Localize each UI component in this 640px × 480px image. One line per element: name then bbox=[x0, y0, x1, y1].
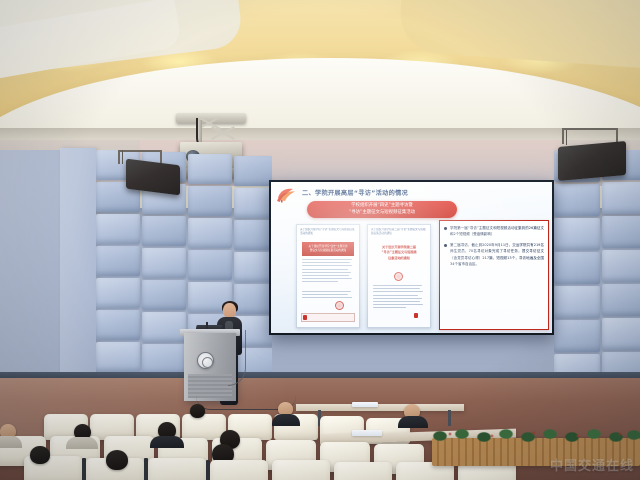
document-thumbnail-2: 关于组织开展学院第二届“寻访”主题征文与短视频征集活动的通知 关于组织开展学院第… bbox=[367, 224, 431, 328]
seat bbox=[210, 460, 268, 480]
attendee-head bbox=[106, 450, 128, 470]
acoustic-panel-wall-right bbox=[554, 150, 640, 390]
presentation-slide: 二、学院开展高层“寻访”活动的情况 学校组织开展“四史”主题寻访暨 “寻访”主题… bbox=[271, 182, 552, 333]
attendee-head bbox=[190, 404, 205, 418]
slide-title: 二、学院开展高层“寻访”活动的情况 bbox=[302, 188, 548, 197]
seat bbox=[334, 462, 392, 480]
seat bbox=[272, 460, 330, 480]
planter-flowers bbox=[430, 428, 638, 442]
attendee-shoulders bbox=[66, 437, 98, 449]
doc1-red-line-2: 暨征文与短视频征集活动的通知 bbox=[310, 249, 346, 253]
presenter-head bbox=[223, 303, 236, 318]
callout-bullet-1-text: 学院第一届“寻访”主题征文和短视频活动征集到的26篇征文和2个短视频（受疫情影响… bbox=[450, 225, 544, 237]
image-watermark: 中国交通在线 bbox=[550, 455, 634, 474]
callout-bullet-2: 第二届寻访，截止到2020年9月11日，交运学院共有219名师生党员、70名寻访… bbox=[444, 242, 544, 267]
lecture-hall-photo: 二、学院开展高层“寻访”活动的情况 学校组织开展“四史”主题寻访暨 “寻访”主题… bbox=[0, 0, 640, 480]
doc2-red-title: 关于组织开展学院第二届 “寻访”主题征文与短视频 征集活动的通知 bbox=[372, 245, 426, 261]
table-paper bbox=[352, 402, 378, 407]
doc2-seal-icon bbox=[394, 272, 403, 281]
seat-divider bbox=[144, 458, 148, 480]
doc1-footer-bar bbox=[301, 313, 355, 322]
slide-callout-box: 学院第一届“寻访”主题征文和短视频活动征集到的26篇征文和2个短视频（受疫情影响… bbox=[439, 220, 549, 330]
table-paper bbox=[352, 430, 382, 436]
attendee-shoulders bbox=[398, 416, 428, 428]
attendee-head bbox=[30, 446, 50, 464]
slide-ribbon-banner: 学校组织开展“四史”主题寻访暨 “寻访”主题征文与短视频征集活动 bbox=[307, 201, 457, 218]
doc1-red-title-block: 关于组织开展学院“四史”主题寻访 暨征文与短视频征集活动的通知 bbox=[302, 242, 354, 256]
bullet-dot-icon bbox=[444, 227, 447, 230]
ribbon-flame-icon bbox=[276, 187, 298, 203]
attendee-shoulders bbox=[0, 436, 22, 448]
seat-divider bbox=[206, 460, 210, 480]
speaker-wire-right bbox=[566, 130, 567, 145]
doc2-red-mark bbox=[414, 313, 418, 318]
attendee-shoulders bbox=[272, 414, 300, 426]
callout-bullet-2-text: 第二届寻访，截止到2020年9月11日，交运学院共有219名师生党员、70名寻访… bbox=[450, 242, 544, 267]
left-flat-wall bbox=[0, 150, 66, 405]
doc1-seal-icon bbox=[335, 301, 344, 310]
ribbon-line-1: 学校组织开展“四史”主题寻访暨 bbox=[351, 203, 413, 210]
university-emblem-icon bbox=[197, 352, 214, 369]
seat-divider bbox=[82, 458, 86, 480]
seat bbox=[148, 458, 206, 480]
doc1-header-text: 关于组织开展学院“寻访”主题征文与短视频征集活动的通知 bbox=[300, 228, 356, 236]
bullet-dot-icon bbox=[444, 244, 447, 247]
podium-grille bbox=[188, 374, 232, 398]
doc2-red-line-3: 征集活动的通知 bbox=[372, 256, 426, 261]
callout-bullet-1: 学院第一届“寻访”主题征文和短视频活动征集到的26篇征文和2个短视频（受疫情影响… bbox=[444, 225, 544, 237]
doc1-body-lines-2 bbox=[302, 291, 354, 301]
doc1-body-lines bbox=[302, 259, 354, 285]
wall-speaker-right bbox=[558, 141, 626, 181]
ribbon-line-2: “寻访”主题征文与短视频征集活动 bbox=[349, 210, 415, 217]
doc2-body-lines bbox=[373, 285, 425, 311]
table-leg bbox=[448, 410, 451, 426]
doc1-red-mark bbox=[303, 315, 307, 320]
left-wall-pillar bbox=[60, 148, 96, 410]
attendee-shoulders bbox=[150, 436, 184, 448]
document-thumbnail-1: 关于组织开展学院“寻访”主题征文与短视频征集活动的通知 关于组织开展学院“四史”… bbox=[296, 224, 360, 328]
doc2-header-text: 关于组织开展学院第二届“寻访”主题征文与短视频征集活动的通知 bbox=[371, 228, 427, 236]
slide-surface: 二、学院开展高层“寻访”活动的情况 学校组织开展“四史”主题寻访暨 “寻访”主题… bbox=[271, 182, 552, 333]
speaker-wire-left bbox=[122, 150, 123, 164]
audience-table-back bbox=[296, 404, 464, 411]
projection-screen: 二、学院开展高层“寻访”活动的情况 学校组织开展“四史”主题寻访暨 “寻访”主题… bbox=[269, 180, 554, 335]
